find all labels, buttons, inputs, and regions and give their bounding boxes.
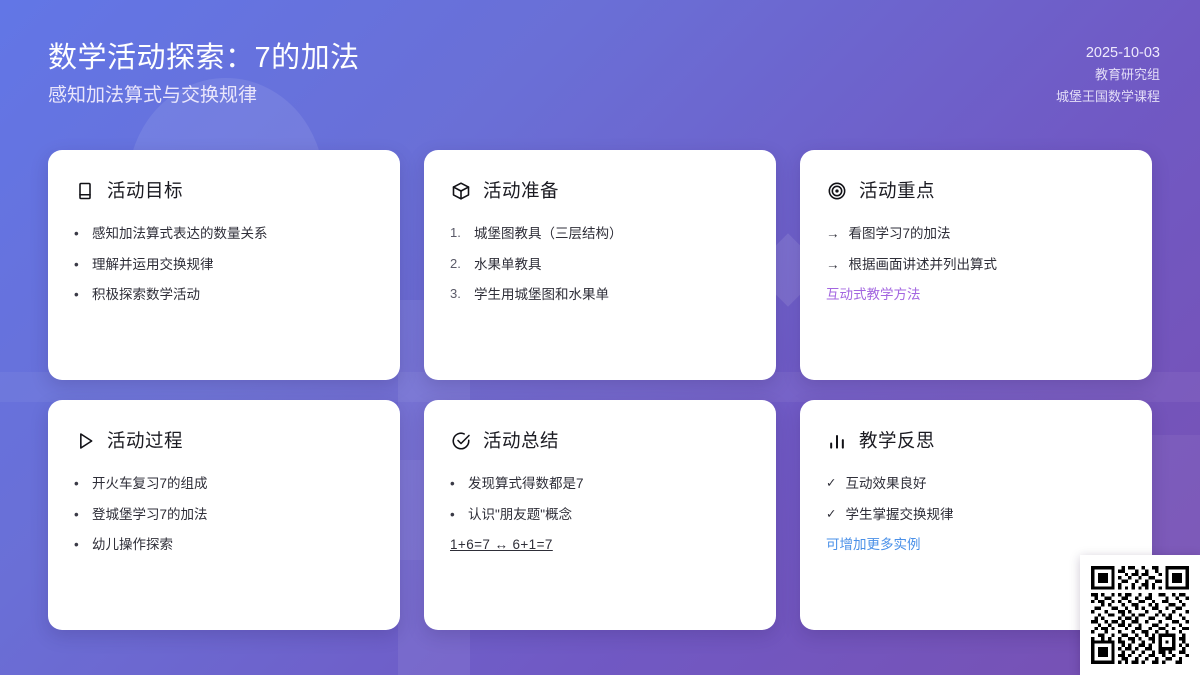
box-icon [450, 180, 472, 202]
bullet-icon: • [74, 474, 83, 494]
card-title: 活动过程 [107, 432, 183, 451]
card-item-list: →看图学习7的加法→根据画面讲述并列出算式 [826, 224, 1126, 274]
book-icon [74, 180, 96, 202]
check-circle-icon [450, 430, 472, 452]
card-header: 活动目标 [74, 180, 374, 202]
card-title: 教学反思 [859, 432, 935, 451]
list-item: •开火车复习7的组成 [74, 474, 374, 494]
list-item-text: 根据画面讲述并列出算式 [849, 255, 998, 275]
card-header: 活动准备 [450, 180, 750, 202]
list-item: ✓互动效果良好 [826, 474, 1126, 494]
target-icon [826, 180, 848, 202]
list-item-text: 幼儿操作探索 [92, 535, 173, 555]
header-meta: 2025-10-03 教育研究组 城堡王国数学课程 [1056, 42, 1160, 107]
list-item-text: 看图学习7的加法 [849, 224, 951, 244]
list-item: 1.城堡图教具（三层结构） [450, 224, 750, 244]
list-item: •认识"朋友题"概念 [450, 505, 750, 525]
card-item-list: ✓互动效果良好✓学生掌握交换规律 [826, 474, 1126, 524]
list-marker-number: 1. [450, 224, 465, 243]
play-icon [74, 430, 96, 452]
list-item: •登城堡学习7的加法 [74, 505, 374, 525]
list-item: •理解并运用交换规律 [74, 255, 374, 275]
card-title: 活动目标 [107, 182, 183, 201]
card-title: 活动准备 [483, 182, 559, 201]
card-header: 活动重点 [826, 180, 1126, 202]
page-subtitle: 感知加法算式与交换规律 [48, 84, 360, 109]
list-item: →根据画面讲述并列出算式 [826, 255, 1126, 275]
header-org: 教育研究组 [1056, 64, 1160, 85]
list-item-text: 感知加法算式表达的数量关系 [92, 224, 268, 244]
list-item: •积极探索数学活动 [74, 285, 374, 305]
list-item: •幼儿操作探索 [74, 535, 374, 555]
card-2: 活动准备1.城堡图教具（三层结构）2.水果单教具3.学生用城堡图和水果单 [424, 150, 776, 380]
list-item: •感知加法算式表达的数量关系 [74, 224, 374, 244]
card-header: 活动过程 [74, 430, 374, 452]
card-title: 活动重点 [859, 182, 935, 201]
card-title: 活动总结 [483, 432, 559, 451]
list-marker-number: 2. [450, 255, 465, 274]
bullet-icon: • [74, 224, 83, 244]
list-item-text: 学生用城堡图和水果单 [474, 285, 609, 305]
page-title: 数学活动探索：7的加法 [48, 40, 360, 76]
list-marker-number: 3. [450, 285, 465, 304]
list-item: •发现算式得数都是7 [450, 474, 750, 494]
card-5: 活动总结•发现算式得数都是7•认识"朋友题"概念1+6=7 ↔ 6+1=7 [424, 400, 776, 630]
list-item-text: 水果单教具 [474, 255, 542, 275]
list-item-text: 学生掌握交换规律 [845, 505, 953, 525]
check-icon: ✓ [826, 505, 836, 523]
card-header: 活动总结 [450, 430, 750, 452]
bullet-icon: • [450, 474, 459, 494]
card-grid: 活动目标•感知加法算式表达的数量关系•理解并运用交换规律•积极探索数学活动活动准… [48, 150, 1152, 630]
list-item: 3.学生用城堡图和水果单 [450, 285, 750, 305]
list-item-text: 开火车复习7的组成 [92, 474, 208, 494]
list-item: 2.水果单教具 [450, 255, 750, 275]
list-item-text: 互动效果良好 [845, 474, 926, 494]
list-item-text: 城堡图教具（三层结构） [474, 224, 623, 244]
bullet-icon: • [450, 505, 459, 525]
card-4: 活动过程•开火车复习7的组成•登城堡学习7的加法•幼儿操作探索 [48, 400, 400, 630]
bullet-icon: • [74, 285, 83, 305]
highlight-link[interactable]: 可增加更多实例 [826, 535, 1126, 555]
card-header: 教学反思 [826, 430, 1126, 452]
formula-highlight: 1+6=7 ↔ 6+1=7 [450, 535, 750, 555]
title-block: 数学活动探索：7的加法 感知加法算式与交换规律 [48, 40, 360, 109]
bullet-icon: • [74, 505, 83, 525]
list-item-text: 认识"朋友题"概念 [468, 505, 572, 525]
card-item-list: •感知加法算式表达的数量关系•理解并运用交换规律•积极探索数学活动 [74, 224, 374, 305]
highlight-link[interactable]: 互动式教学方法 [826, 285, 1126, 305]
list-item-text: 登城堡学习7的加法 [92, 505, 208, 525]
list-item-text: 积极探索数学活动 [92, 285, 200, 305]
list-item: ✓学生掌握交换规律 [826, 505, 1126, 525]
arrow-icon: → [826, 255, 840, 275]
header-course: 城堡王国数学课程 [1056, 86, 1160, 107]
check-icon: ✓ [826, 474, 836, 492]
list-item-text: 发现算式得数都是7 [468, 474, 584, 494]
bullet-icon: • [74, 255, 83, 275]
slide-root: 数学活动探索：7的加法 感知加法算式与交换规律 2025-10-03 教育研究组… [0, 0, 1200, 675]
card-item-list: 1.城堡图教具（三层结构）2.水果单教具3.学生用城堡图和水果单 [450, 224, 750, 305]
card-item-list: •发现算式得数都是7•认识"朋友题"概念 [450, 474, 750, 524]
qr-code [1091, 566, 1189, 664]
card-1: 活动目标•感知加法算式表达的数量关系•理解并运用交换规律•积极探索数学活动 [48, 150, 400, 380]
slide-header: 数学活动探索：7的加法 感知加法算式与交换规律 2025-10-03 教育研究组… [0, 0, 1200, 140]
bar-chart-icon [826, 430, 848, 452]
list-item: →看图学习7的加法 [826, 224, 1126, 244]
arrow-icon: → [826, 224, 840, 244]
card-3: 活动重点→看图学习7的加法→根据画面讲述并列出算式互动式教学方法 [800, 150, 1152, 380]
card-item-list: •开火车复习7的组成•登城堡学习7的加法•幼儿操作探索 [74, 474, 374, 555]
list-item-text: 理解并运用交换规律 [92, 255, 214, 275]
bullet-icon: • [74, 535, 83, 555]
qr-code-container[interactable] [1080, 555, 1200, 675]
header-date: 2025-10-03 [1056, 42, 1160, 64]
